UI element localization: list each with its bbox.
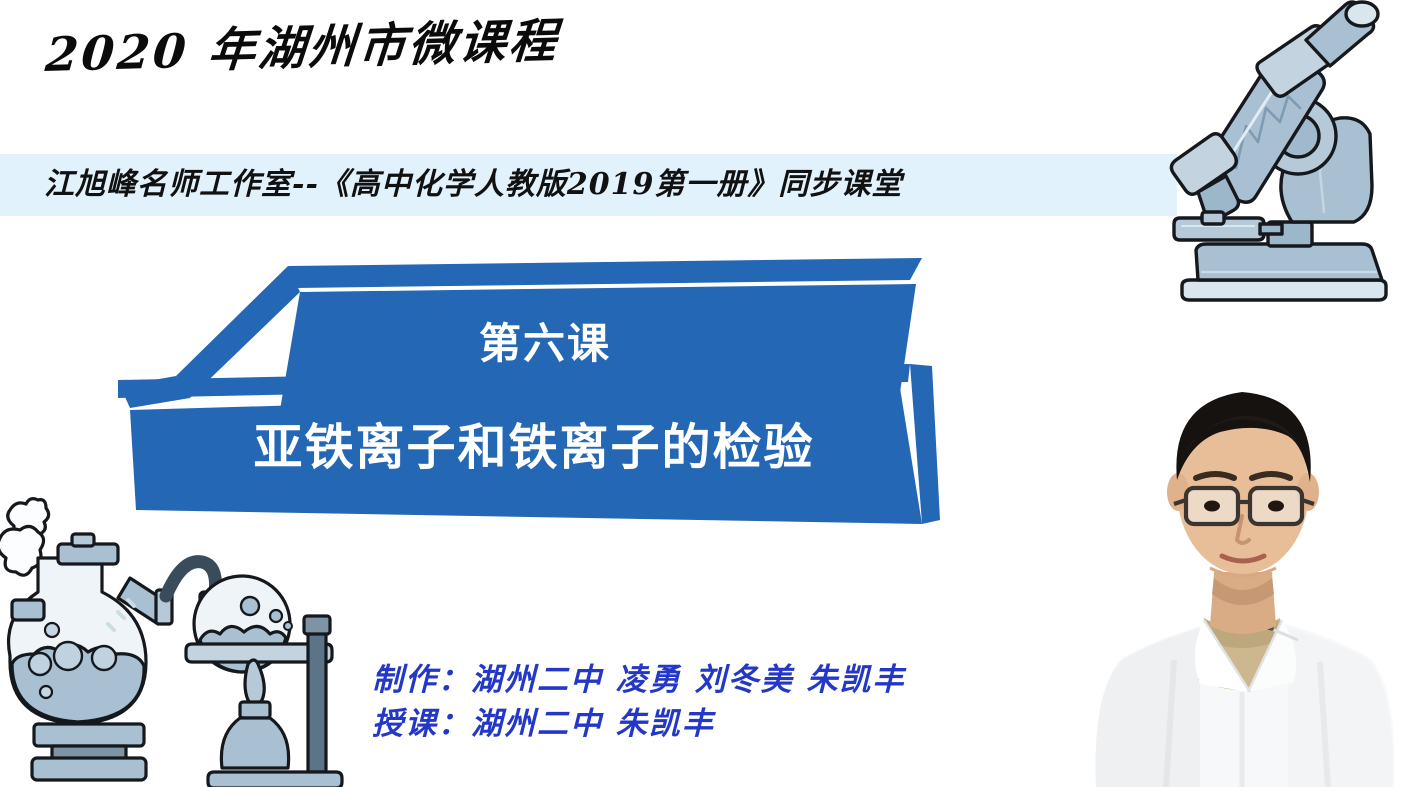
credit-produced-by: 制作：湖州二中 凌勇 刘冬美 朱凯丰 [372,658,905,702]
microscope-illustration [1140,0,1401,320]
credits-block: 制作：湖州二中 凌勇 刘冬美 朱凯丰 授课：湖州二中 朱凯丰 [372,658,905,746]
subtitle-text: 江旭峰名师工作室--《高中化学人教版2019第一册》同步课堂 [44,162,1164,208]
credit-taught-by: 授课：湖州二中 朱凯丰 [372,702,905,746]
slide-canvas: 2020 年湖州市微课程 江旭峰名师工作室--《高中化学人教版2019第一册》同… [0,0,1401,787]
banner-top-outline [288,258,922,288]
presenter-photo [1082,340,1401,787]
lab-apparatus-illustration [0,496,348,787]
page-title: 2020 年湖州市微课程 [43,2,562,85]
